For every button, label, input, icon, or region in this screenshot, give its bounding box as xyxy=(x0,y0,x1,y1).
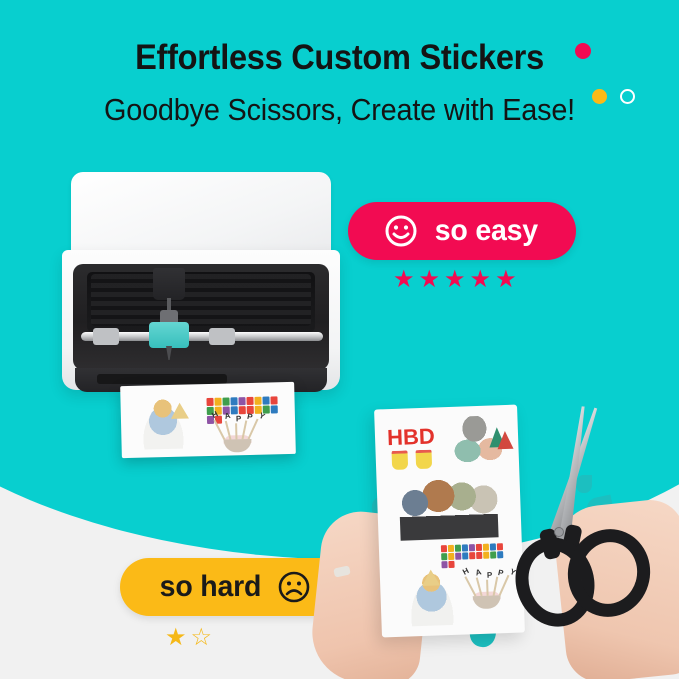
cake-sticker xyxy=(392,450,409,470)
hands-scissors-scene: HBD HAPPY xyxy=(360,395,679,679)
letter-sticker xyxy=(271,405,278,413)
child-party-hat-photo-sticker xyxy=(402,567,462,627)
so-easy-badge[interactable]: so easy xyxy=(348,202,576,260)
happy-cake-topper-sticker: HAPPY xyxy=(213,423,264,454)
cake-topper-letter: A xyxy=(474,567,485,579)
letter-sticker xyxy=(462,552,468,559)
star-filled-icon: ★ xyxy=(444,268,466,292)
white-dot-icon xyxy=(620,89,635,104)
sad-face-icon xyxy=(277,570,311,604)
poster-canvas: Effortless Custom Stickers Goodbye Sciss… xyxy=(0,0,679,679)
letter-sticker xyxy=(455,553,461,560)
letter-sticker xyxy=(476,552,482,559)
machine-carriage-block xyxy=(149,322,189,348)
cake-topper-letter: H xyxy=(461,565,474,578)
printed-sticker-sheet: HAPPY xyxy=(120,382,296,458)
so-easy-rating: ★★★★★ xyxy=(393,268,517,292)
letter-sticker xyxy=(483,544,489,551)
smiley-face-icon xyxy=(384,214,418,248)
star-filled-icon: ★ xyxy=(470,268,492,292)
hbd-text-sticker: HBD xyxy=(387,423,436,451)
so-easy-label: so easy xyxy=(434,214,537,248)
letter-sticker xyxy=(206,398,213,406)
page-subtitle: Goodbye Scissors, Create with Ease! xyxy=(24,92,655,128)
letter-sticker xyxy=(490,551,496,558)
party-hat-icon xyxy=(171,402,189,418)
page-title: Effortless Custom Stickers xyxy=(24,38,655,78)
letter-sticker xyxy=(441,553,447,560)
letter-sticker xyxy=(490,543,496,550)
letter-sticker xyxy=(239,406,246,414)
machine-carriage-head xyxy=(153,268,185,300)
machine-roller-left xyxy=(93,328,119,345)
pink-dot-icon xyxy=(575,43,591,59)
letter-sticker xyxy=(469,552,475,559)
star-filled-icon: ★ xyxy=(393,268,415,292)
cake-topper-letter: Y xyxy=(257,411,269,424)
black-handled-scissors xyxy=(502,401,672,621)
so-hard-rating: ★☆ xyxy=(165,626,212,650)
child-party-hat-photo-sticker xyxy=(134,396,191,449)
letter-sticker xyxy=(469,544,475,551)
party-hat-icon xyxy=(422,569,441,586)
letter-sticker xyxy=(455,545,461,552)
letter-sticker xyxy=(462,544,468,551)
star-filled-icon: ★ xyxy=(419,268,441,292)
letter-sticker xyxy=(441,545,447,552)
letter-sticker xyxy=(238,397,245,405)
cake-bowl xyxy=(223,439,251,453)
machine-roller-right xyxy=(209,328,235,345)
so-hard-label: so hard xyxy=(159,570,261,604)
letter-sticker xyxy=(270,396,277,404)
letter-sticker xyxy=(222,397,229,405)
letter-sticker xyxy=(254,397,261,405)
dog-party-hat-photo-sticker xyxy=(452,415,508,465)
machine-slats xyxy=(91,274,311,326)
star-filled-icon: ★ xyxy=(495,268,517,292)
scissor-pivot-screw xyxy=(554,527,564,537)
letter-sticker xyxy=(262,396,269,404)
letter-sticker xyxy=(476,544,482,551)
scissor-blade xyxy=(558,406,589,544)
yellow-dot-icon xyxy=(592,89,607,104)
cake-sticker xyxy=(416,450,433,470)
cake-topper-pick: H xyxy=(464,576,476,596)
star-empty-icon: ☆ xyxy=(191,626,213,650)
letter-sticker xyxy=(230,397,237,405)
family-celebration-photo-sticker xyxy=(398,475,498,540)
cake-topper-pick: P xyxy=(486,580,489,596)
letter-sticker xyxy=(448,545,454,552)
star-filled-icon: ★ xyxy=(165,626,187,650)
letter-sticker xyxy=(448,553,454,560)
cake-topper-pick: P xyxy=(235,423,237,439)
machine-feed-slot xyxy=(97,374,227,384)
letter-sticker xyxy=(214,398,221,406)
letter-sticker xyxy=(483,552,489,559)
letter-stickers-row xyxy=(441,543,506,563)
letter-sticker xyxy=(246,397,253,405)
cake-bowl xyxy=(473,595,501,609)
sticker-cutting-machine: HAPPY xyxy=(57,172,345,422)
